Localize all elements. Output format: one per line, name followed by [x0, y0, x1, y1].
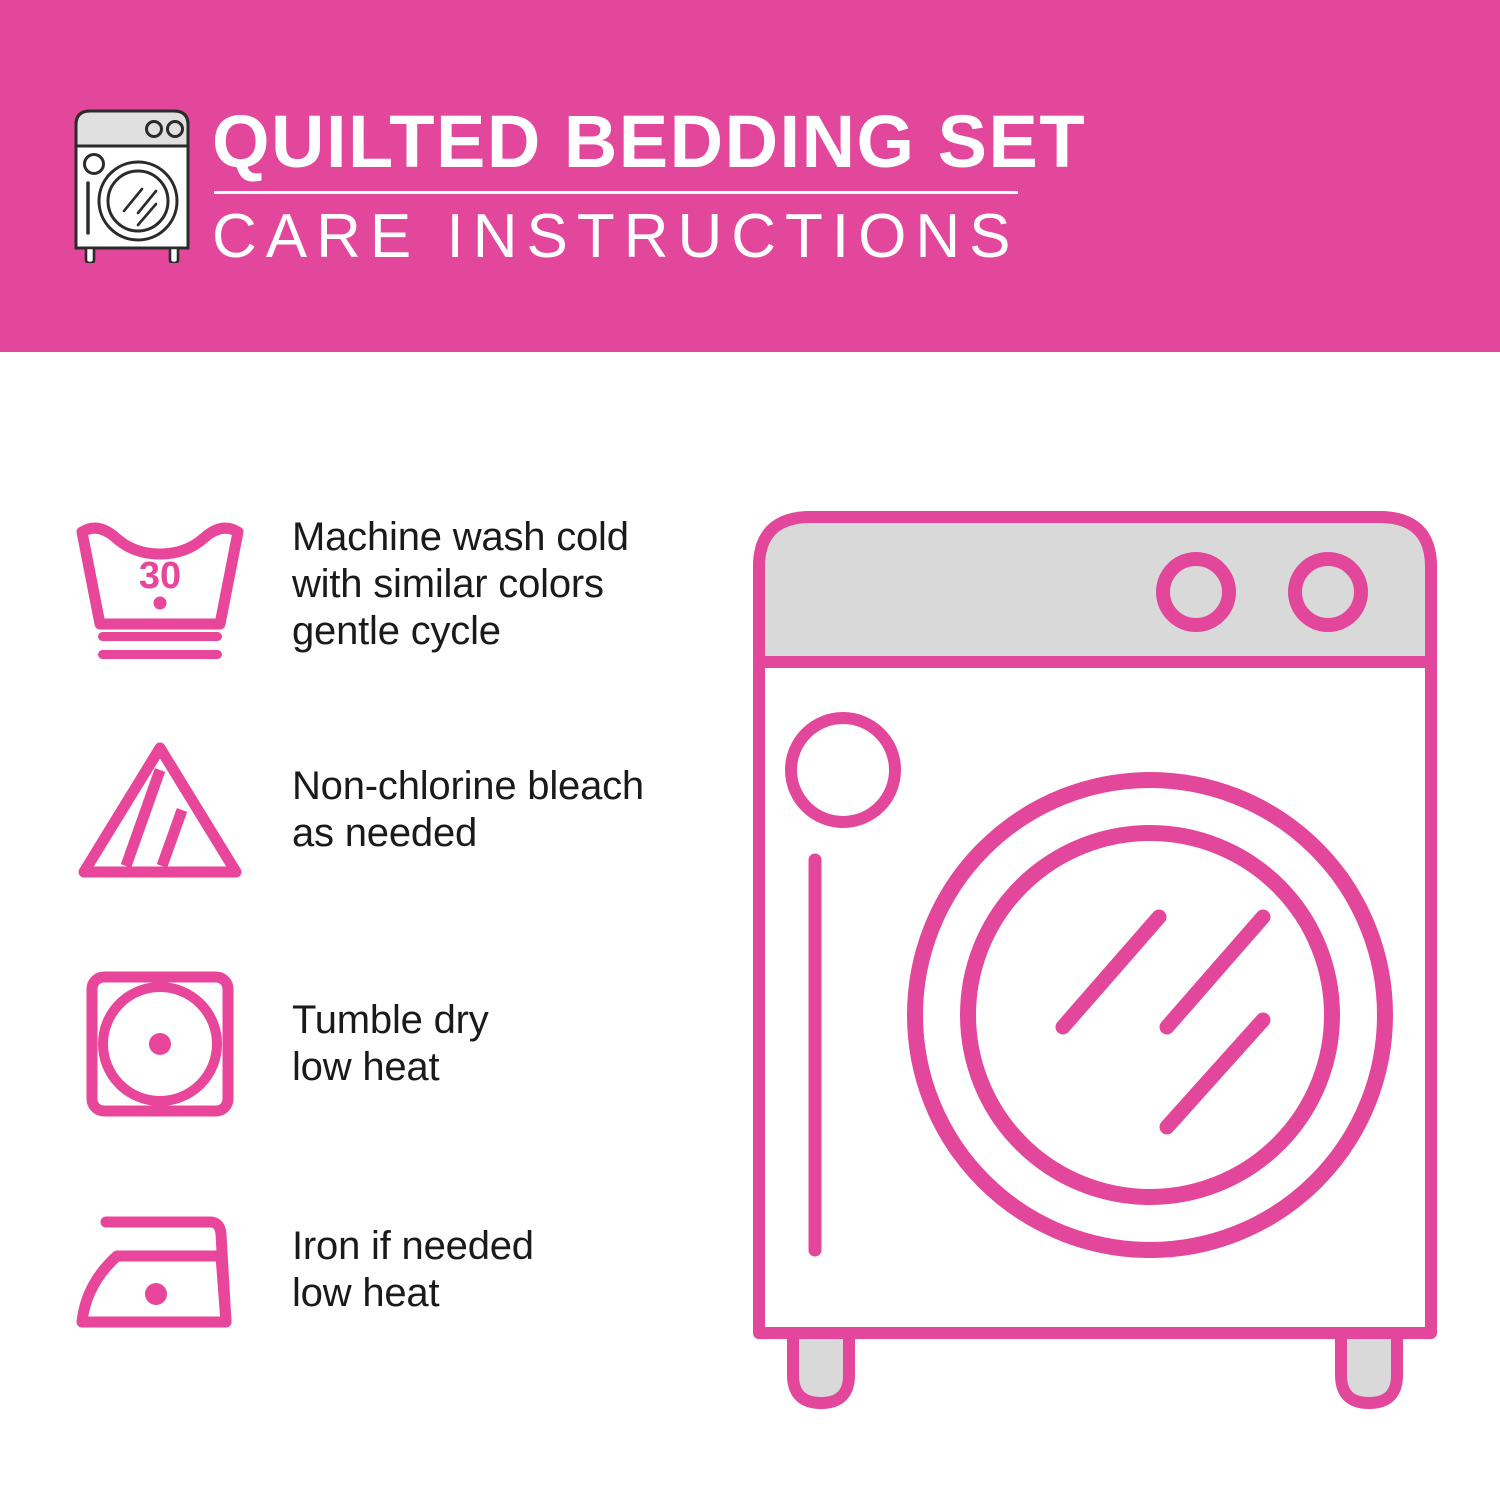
detergent-cap-icon [791, 718, 895, 822]
instruction-line: low heat [292, 1044, 489, 1091]
iron-low-heat-icon [70, 1190, 250, 1350]
instruction-item-bleach: Non-chlorine bleach as needed [70, 730, 710, 890]
washing-machine-illustration [735, 495, 1455, 1430]
wash-temperature-value: 30 [139, 555, 181, 597]
tumble-dry-low-icon [70, 964, 250, 1124]
wash-basin-30-icon: 30 [70, 504, 250, 664]
instruction-text-bleach: Non-chlorine bleach as needed [292, 763, 644, 857]
instruction-text-iron: Iron if needed low heat [292, 1223, 534, 1317]
header-divider [214, 191, 1018, 194]
page-title: QUILTED BEDDING SET [212, 100, 1022, 184]
instruction-line: Machine wash cold [292, 514, 629, 561]
instruction-line: Non-chlorine bleach [292, 763, 644, 810]
header-text-block: QUILTED BEDDING SET CARE INSTRUCTIONS [212, 100, 1022, 272]
care-instructions-list: 30 Machine wash cold with similar colors… [0, 352, 740, 1500]
instruction-item-wash: 30 Machine wash cold with similar colors… [70, 504, 710, 664]
instruction-line: as needed [292, 810, 644, 857]
instruction-line: Iron if needed [292, 1223, 534, 1270]
instruction-line: Tumble dry [292, 997, 489, 1044]
instruction-line: gentle cycle [292, 608, 629, 655]
instruction-line: with similar colors [292, 561, 629, 608]
instruction-line: low heat [292, 1270, 534, 1317]
instruction-item-iron: Iron if needed low heat [70, 1190, 710, 1350]
header-banner: QUILTED BEDDING SET CARE INSTRUCTIONS [0, 0, 1500, 352]
instruction-text-tumble-dry: Tumble dry low heat [292, 997, 489, 1091]
instruction-text-wash: Machine wash cold with similar colors ge… [292, 514, 629, 655]
machine-knob [1163, 559, 1229, 625]
instruction-item-tumble-dry: Tumble dry low heat [70, 964, 710, 1124]
machine-knob [1295, 559, 1361, 625]
drum-inner-ring [968, 833, 1332, 1197]
page-subtitle: CARE INSTRUCTIONS [212, 202, 1022, 272]
washing-machine-logo-icon [62, 103, 202, 263]
triangle-bleach-icon [70, 730, 250, 890]
